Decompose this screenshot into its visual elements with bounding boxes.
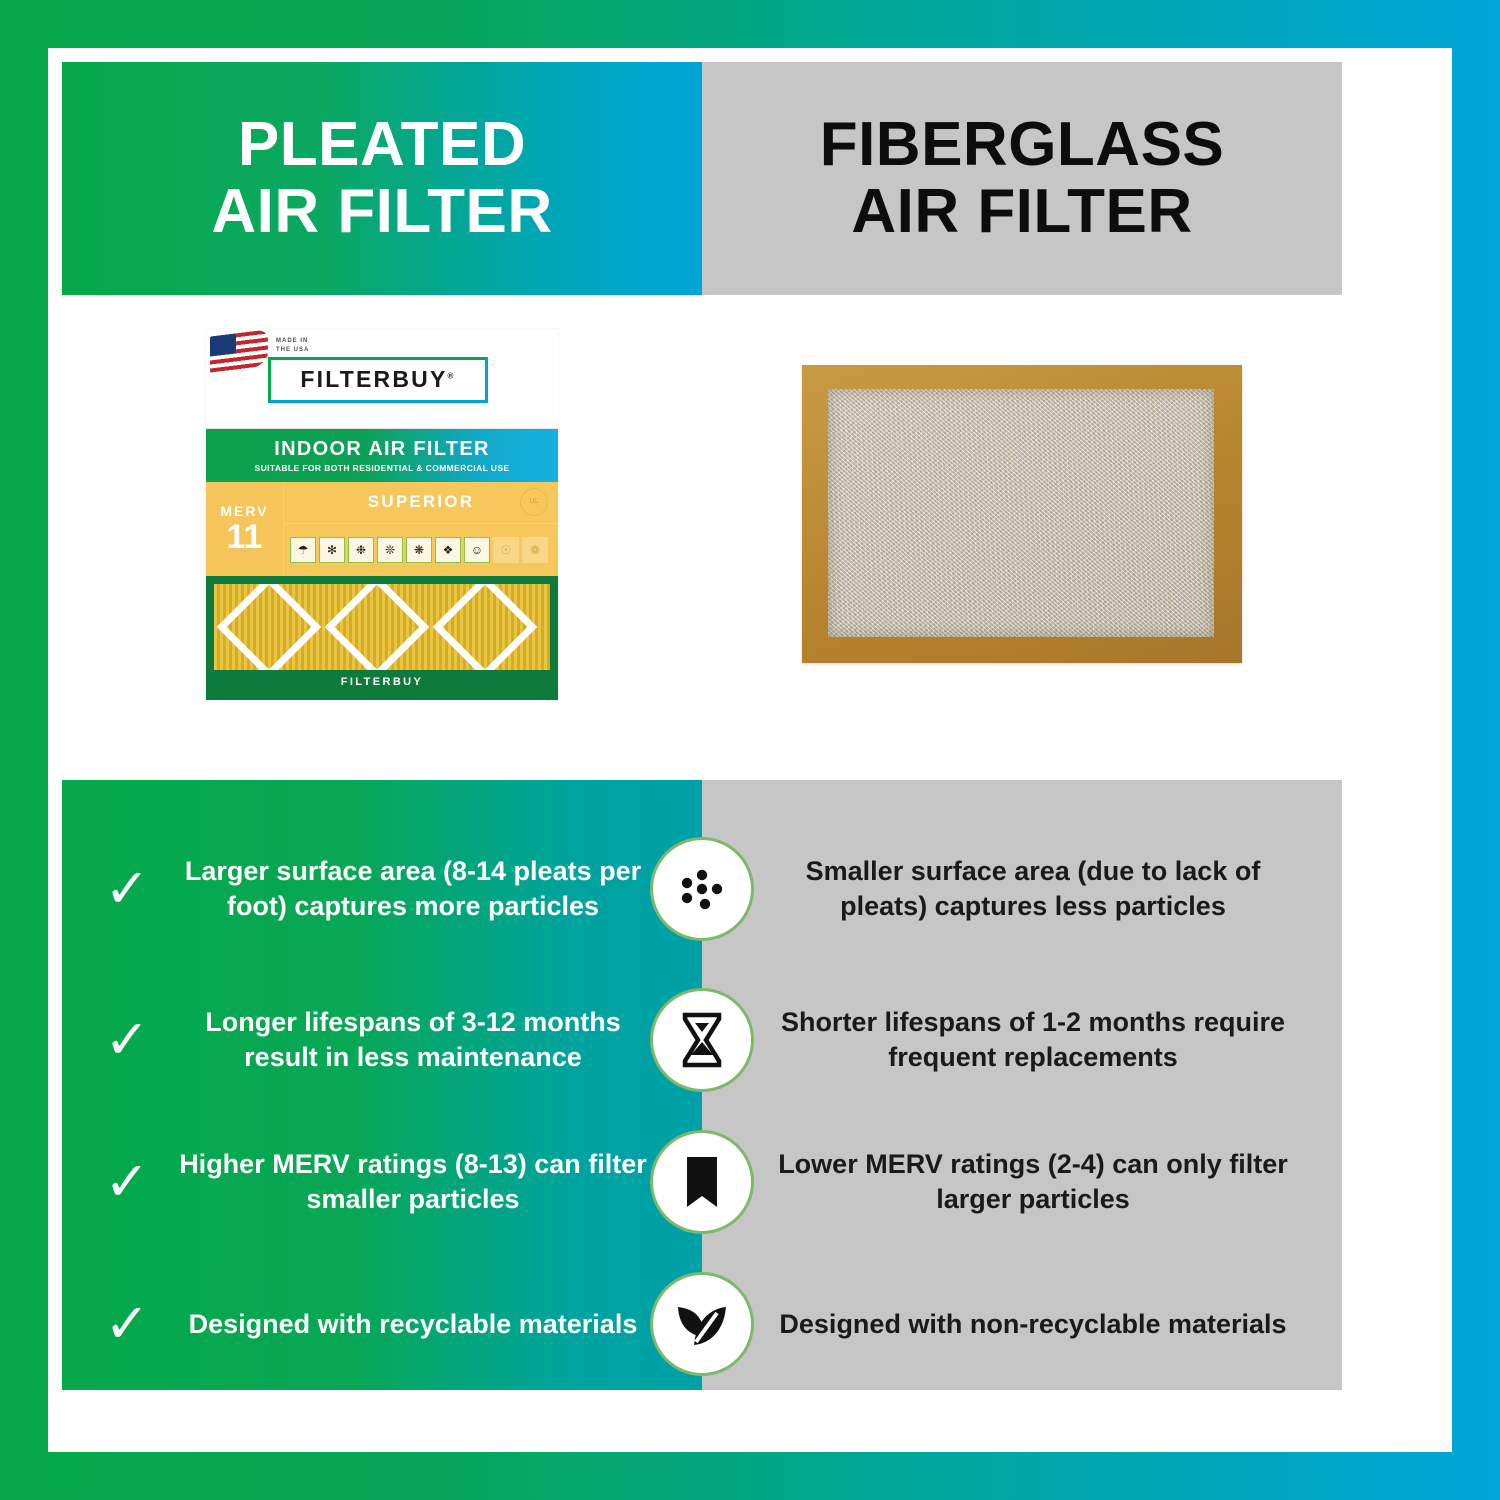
made-in-line1: MADE IN — [276, 337, 309, 346]
comparison-right-text: Lower MERV ratings (2-4) can only filter… — [702, 1147, 1342, 1216]
package-tier-label: SUPERIOR — [368, 492, 474, 512]
pleated-air-filter-package: MADE IN THE USA FILTERBUY® INDOOR AIR FI… — [206, 329, 558, 699]
poster-root: PLEATED AIR FILTER FIBERGLASS AIR FILTER… — [0, 0, 1500, 1500]
comparison-right-text: Smaller surface area (due to lack of ple… — [702, 854, 1342, 923]
comparison-row-left: ✓ Designed with recyclable materials — [62, 1254, 702, 1394]
product-right-cell — [702, 295, 1342, 732]
fiberglass-air-filter — [802, 365, 1242, 663]
virus-ghost-icon: ❁ — [522, 537, 548, 563]
product-images-row: MADE IN THE USA FILTERBUY® INDOOR AIR FI… — [62, 295, 1342, 732]
package-tier-and-icons: SUPERIOR UL ☂ ✻ ❉ ❊ ❋ ❖ ☺ ☉ ❁ — [284, 482, 558, 576]
comparison-row-right: Smaller surface area (due to lack of ple… — [702, 810, 1342, 968]
comparison-row-left: ✓ Longer lifespans of 3-12 months result… — [62, 970, 702, 1110]
header-pleated: PLEATED AIR FILTER — [62, 62, 702, 295]
pleat-support-diamond — [217, 584, 322, 670]
pleat-support-diamond — [433, 584, 538, 670]
pleat-media — [214, 584, 550, 670]
comparison-right-text: Designed with non-recyclable materials — [702, 1307, 1342, 1342]
comparison-left-text: Higher MERV ratings (8-13) can filter sm… — [166, 1147, 702, 1216]
package-top-section: MADE IN THE USA FILTERBUY® — [206, 329, 558, 429]
comparison-left-text: Larger surface area (8-14 pleats per foo… — [166, 854, 702, 923]
vacuum-dust-icon: ☂ — [290, 537, 316, 563]
comparison-left-text: Longer lifespans of 3-12 months result i… — [166, 1005, 702, 1074]
package-indoor-air-filter-band: INDOOR AIR FILTER SUITABLE FOR BOTH RESI… — [206, 429, 558, 482]
dust-mite-icon: ✻ — [319, 537, 345, 563]
package-merv-section: MERV 11 SUPERIOR UL ☂ ✻ ❉ ❊ ❋ — [206, 482, 558, 576]
comparison-section: ✓ Larger surface area (8-14 pleats per f… — [62, 780, 1342, 1390]
header-pleated-title: PLEATED AIR FILTER — [211, 112, 552, 245]
bookmark-ribbon-icon — [650, 1130, 754, 1234]
comparison-row-right: Designed with non-recyclable materials — [702, 1254, 1342, 1394]
package-band-sub: SUITABLE FOR BOTH RESIDENTIAL & COMMERCI… — [255, 463, 510, 473]
bacteria-ghost-icon: ☉ — [493, 537, 519, 563]
usa-flag-icon — [210, 329, 268, 374]
check-icon: ✓ — [88, 1013, 166, 1067]
header-band: PLEATED AIR FILTER FIBERGLASS AIR FILTER — [62, 62, 1342, 295]
header-fiberglass-title: FIBERGLASS AIR FILTER — [820, 112, 1225, 245]
mold-spores-icon: ❊ — [377, 537, 403, 563]
package-feature-icons: ☂ ✻ ❉ ❊ ❋ ❖ ☺ ☉ ❁ — [284, 524, 558, 576]
merv-badge: MERV 11 — [206, 482, 284, 576]
bacteria-icon: ❋ — [406, 537, 432, 563]
comparison-row-right: Lower MERV ratings (2-4) can only filter… — [702, 1112, 1342, 1252]
header-pleated-line1: PLEATED — [211, 112, 552, 178]
merv-label: MERV — [220, 503, 268, 519]
filterbuy-logo-text: FILTERBUY® — [300, 366, 455, 393]
comparison-left-text: Designed with recyclable materials — [166, 1307, 702, 1342]
ul-certification-icon: UL — [520, 488, 548, 516]
merv-value: 11 — [227, 520, 263, 554]
header-fiberglass: FIBERGLASS AIR FILTER — [702, 62, 1342, 295]
pleat-support-diamond — [325, 584, 430, 670]
header-fiberglass-line1: FIBERGLASS — [820, 112, 1225, 178]
header-pleated-line2: AIR FILTER — [211, 179, 552, 245]
package-footer-brand: FILTERBUY — [214, 670, 550, 694]
made-in-line2: THE USA — [276, 346, 309, 355]
product-left-cell: MADE IN THE USA FILTERBUY® INDOOR AIR FI… — [62, 295, 702, 732]
comparison-row-left: ✓ Larger surface area (8-14 pleats per f… — [62, 810, 702, 968]
leaves-eco-icon — [650, 1272, 754, 1376]
package-band-main: INDOOR AIR FILTER — [274, 438, 489, 461]
comparison-right-text: Shorter lifespans of 1-2 months require … — [702, 1005, 1342, 1074]
pollen-flower-icon: ❉ — [348, 537, 374, 563]
pet-dander-paw-icon: ❖ — [435, 537, 461, 563]
package-tier-row: SUPERIOR UL — [284, 482, 558, 524]
smoke-icon: ☺ — [464, 537, 490, 563]
made-in-usa-label: MADE IN THE USA — [276, 337, 309, 355]
check-icon: ✓ — [88, 1155, 166, 1209]
comparison-row-left: ✓ Higher MERV ratings (8-13) can filter … — [62, 1112, 702, 1252]
check-icon: ✓ — [88, 862, 166, 916]
header-fiberglass-line2: AIR FILTER — [820, 179, 1225, 245]
check-icon: ✓ — [88, 1297, 166, 1351]
comparison-row-right: Shorter lifespans of 1-2 months require … — [702, 970, 1342, 1110]
filterbuy-logo: FILTERBUY® — [268, 357, 488, 403]
particles-dots-icon — [650, 837, 754, 941]
package-pleat-window: FILTERBUY — [206, 576, 558, 700]
hourglass-icon — [650, 988, 754, 1092]
